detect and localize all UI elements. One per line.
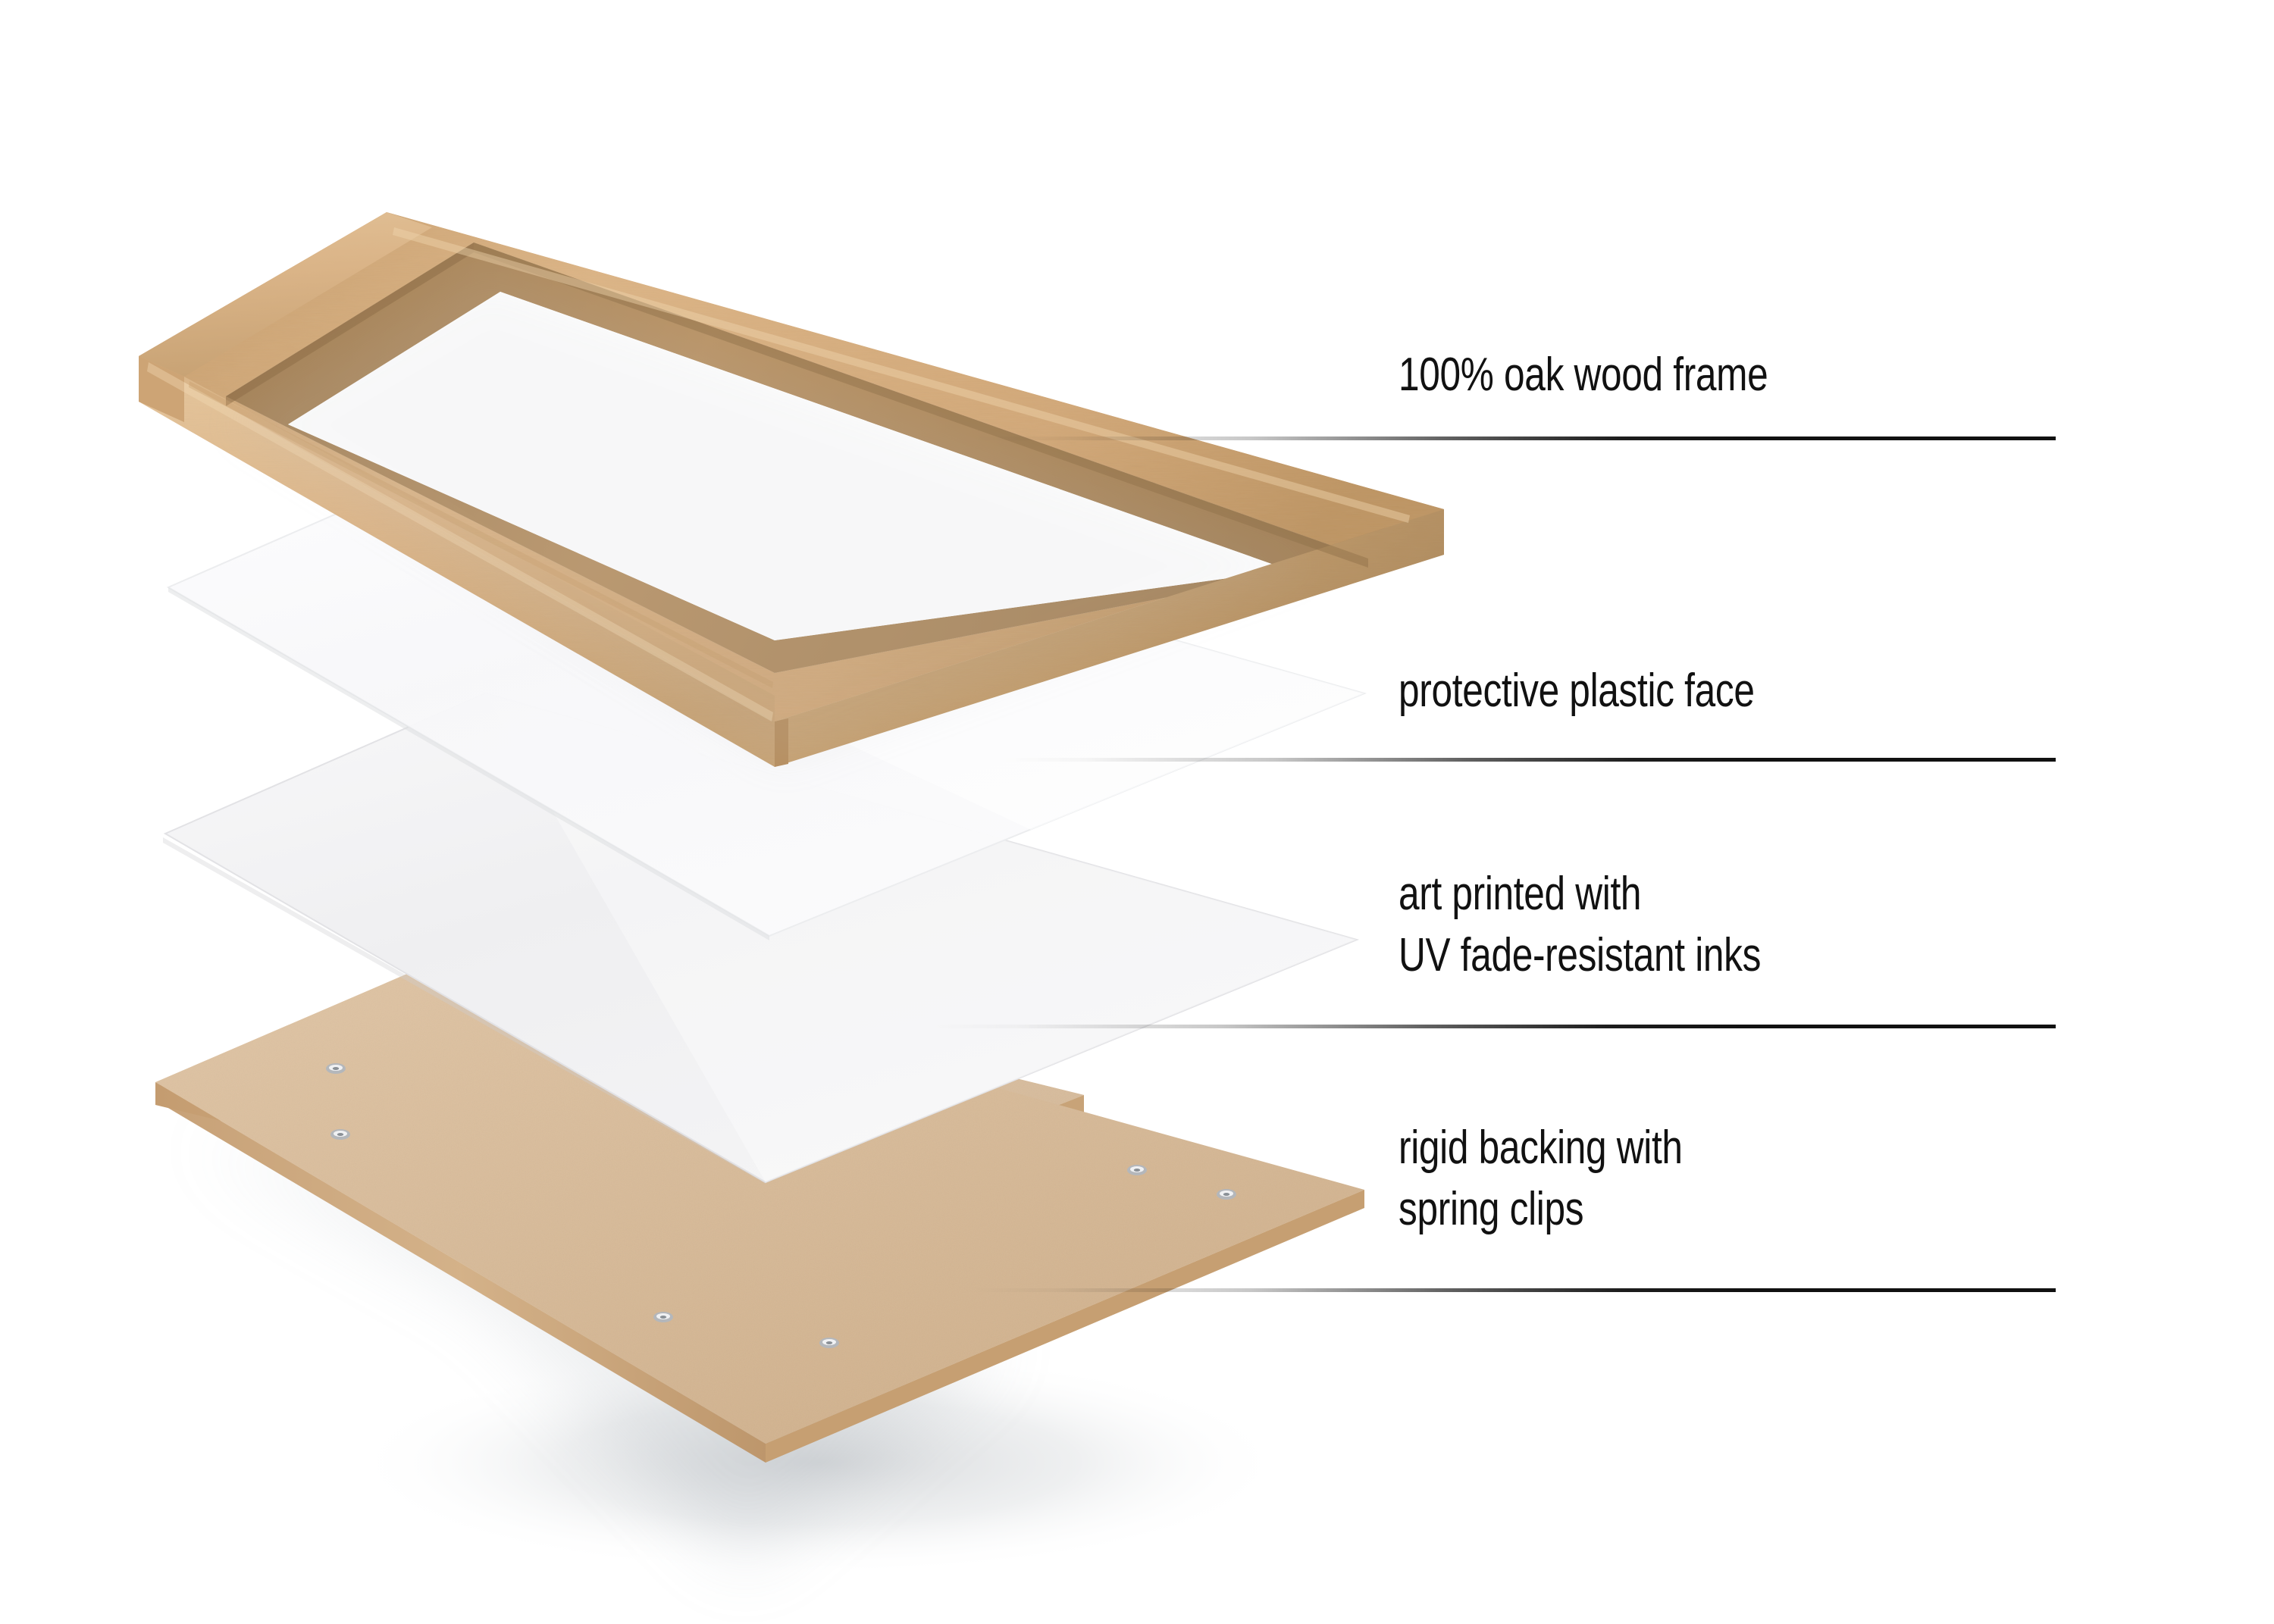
spring-clip	[819, 1338, 839, 1348]
diagram-canvas: 100% oak wood frame protective plastic f…	[0, 0, 2274, 1624]
leader-line-oak-frame	[969, 437, 2056, 440]
spring-clip	[1127, 1165, 1147, 1175]
spring-clip	[330, 1129, 350, 1140]
exploded-view-illustration	[0, 0, 2274, 1624]
spring-clip	[653, 1312, 673, 1322]
leader-line-rigid-backing	[969, 1288, 2056, 1292]
spring-clip	[326, 1063, 346, 1074]
callout-label-rigid-backing: rigid backing with spring clips	[1399, 1118, 1683, 1240]
leader-line-art-print	[931, 1025, 2056, 1028]
callout-label-plastic-face: protective plastic face	[1399, 661, 1755, 722]
leader-line-plastic-face	[1001, 758, 2056, 762]
callout-label-oak-frame: 100% oak wood frame	[1399, 345, 1768, 406]
spring-clip	[1217, 1189, 1236, 1200]
callout-label-art-print: art printed with UV fade-resistant inks	[1399, 864, 1761, 986]
